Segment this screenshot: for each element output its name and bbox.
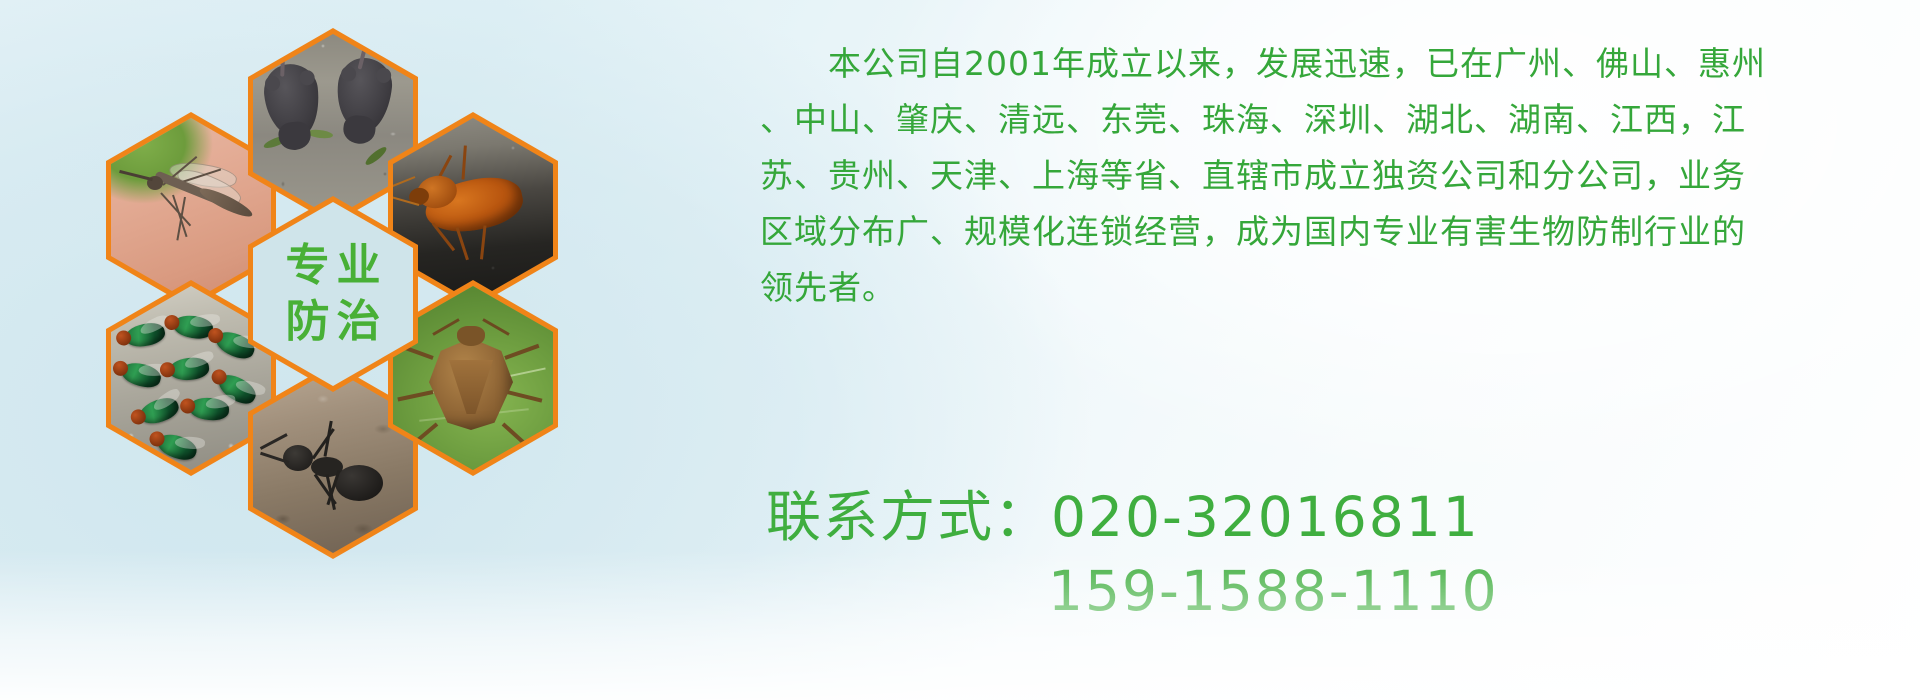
rat-ear bbox=[299, 70, 315, 86]
mosquito-icon bbox=[111, 118, 271, 302]
contact-phone-primary[interactable]: 联系方式：020-32016811 bbox=[766, 480, 1499, 554]
fly-icon bbox=[111, 286, 271, 470]
hex-inner bbox=[111, 118, 271, 302]
stinkbug-leg bbox=[504, 344, 539, 360]
mosquito-proboscis bbox=[119, 170, 153, 181]
stinkbug-antenna bbox=[432, 318, 459, 336]
description-line: 领先者。 bbox=[760, 260, 1820, 316]
hex-inner: 专业 防治 bbox=[253, 202, 413, 386]
description-line: 本公司自2001年成立以来，发展迅速，已在广州、佛山、惠州 bbox=[760, 36, 1820, 92]
pest-control-banner: 专业 防治 本公司自2001年成立以来，发展迅速，已在广州、佛山、惠州 、中山、… bbox=[0, 0, 1920, 700]
ant-head bbox=[283, 445, 313, 471]
description-line: 苏、贵州、天津、上海等省、直辖市成立独资公司和分公司，业务 bbox=[760, 148, 1820, 204]
stinkbug-antenna bbox=[482, 318, 509, 336]
hex-inner bbox=[111, 286, 271, 470]
contact-phone-secondary[interactable]: 159-1588-1110 bbox=[766, 554, 1499, 628]
rat-ear bbox=[340, 66, 356, 82]
description-line: 区域分布广、规模化连锁经营，成为国内专业有害生物防制行业的 bbox=[760, 204, 1820, 260]
stinkbug-leg bbox=[507, 390, 543, 403]
slogan-line-1: 专业 bbox=[279, 242, 388, 290]
stinkbug-head bbox=[457, 326, 485, 346]
hexagon-photo-cluster: 专业 防治 bbox=[88, 8, 588, 558]
slogan-line-2: 防治 bbox=[279, 298, 388, 346]
rat-tail bbox=[280, 34, 286, 77]
rat-ear bbox=[264, 75, 280, 91]
contact-block: 联系方式：020-32016811 159-1588-1110 bbox=[766, 480, 1499, 628]
rat-ear bbox=[375, 67, 391, 83]
company-description: 本公司自2001年成立以来，发展迅速，已在广州、佛山、惠州 、中山、肇庆、清远、… bbox=[760, 36, 1820, 316]
description-line: 、中山、肇庆、清远、东莞、珠海、深圳、湖北、湖南、江西，江 bbox=[760, 92, 1820, 148]
ant-gaster bbox=[335, 465, 383, 501]
stinkbug-leg bbox=[502, 423, 531, 450]
stinkbug-leg bbox=[397, 390, 433, 401]
